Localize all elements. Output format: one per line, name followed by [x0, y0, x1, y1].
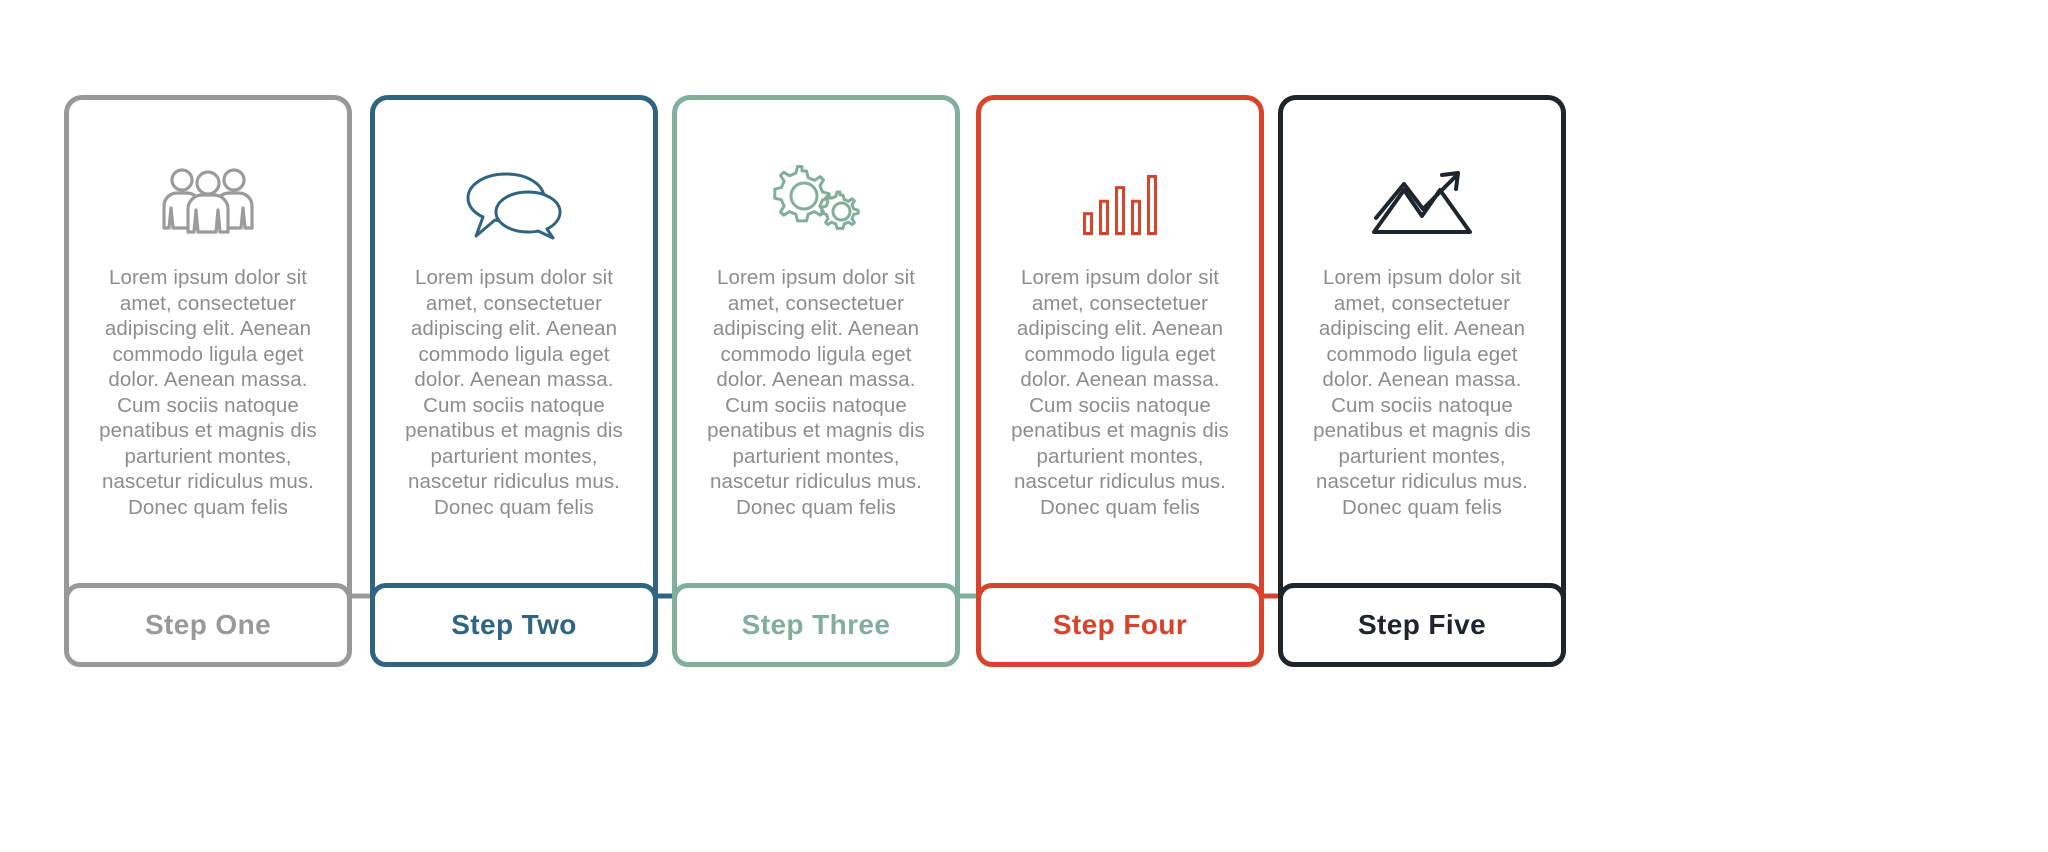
step-label-3: Step Three — [742, 609, 891, 641]
step-description-2: Lorem ipsum dolor sit amet, consectetuer… — [393, 265, 635, 520]
speech-bubbles-icon — [375, 162, 653, 242]
mountain-growth-arrow-icon — [1283, 162, 1561, 242]
step-description-5: Lorem ipsum dolor sit amet, consectetuer… — [1301, 265, 1543, 520]
step-card-4[interactable]: Lorem ipsum dolor sit amet, consectetuer… — [976, 95, 1264, 725]
gears-icon — [677, 162, 955, 242]
step-label-5: Step Five — [1358, 609, 1486, 641]
step-description-3: Lorem ipsum dolor sit amet, consectetuer… — [695, 265, 937, 520]
step-label-tab-5[interactable]: Step Five — [1278, 583, 1566, 667]
bar-chart-icon — [981, 162, 1259, 242]
step-card-1[interactable]: Lorem ipsum dolor sit amet, consectetuer… — [64, 95, 352, 725]
step-card-body-5: Lorem ipsum dolor sit amet, consectetuer… — [1278, 95, 1566, 619]
step-card-body-4: Lorem ipsum dolor sit amet, consectetuer… — [976, 95, 1264, 619]
step-card-3[interactable]: Lorem ipsum dolor sit amet, consectetuer… — [672, 95, 960, 725]
step-label-4: Step Four — [1053, 609, 1187, 641]
people-group-icon — [69, 162, 347, 242]
step-description-4: Lorem ipsum dolor sit amet, consectetuer… — [999, 265, 1241, 520]
step-card-body-2: Lorem ipsum dolor sit amet, consectetuer… — [370, 95, 658, 619]
step-description-1: Lorem ipsum dolor sit amet, consectetuer… — [87, 265, 329, 520]
step-label-tab-2[interactable]: Step Two — [370, 583, 658, 667]
step-label-2: Step Two — [451, 609, 577, 641]
step-label-1: Step One — [145, 609, 271, 641]
step-card-body-3: Lorem ipsum dolor sit amet, consectetuer… — [672, 95, 960, 619]
step-card-body-1: Lorem ipsum dolor sit amet, consectetuer… — [64, 95, 352, 619]
infographic-canvas: Lorem ipsum dolor sit amet, consectetuer… — [0, 0, 2048, 852]
step-card-5[interactable]: Lorem ipsum dolor sit amet, consectetuer… — [1278, 95, 1566, 725]
step-label-tab-3[interactable]: Step Three — [672, 583, 960, 667]
step-label-tab-4[interactable]: Step Four — [976, 583, 1264, 667]
step-label-tab-1[interactable]: Step One — [64, 583, 352, 667]
step-card-2[interactable]: Lorem ipsum dolor sit amet, consectetuer… — [370, 95, 658, 725]
